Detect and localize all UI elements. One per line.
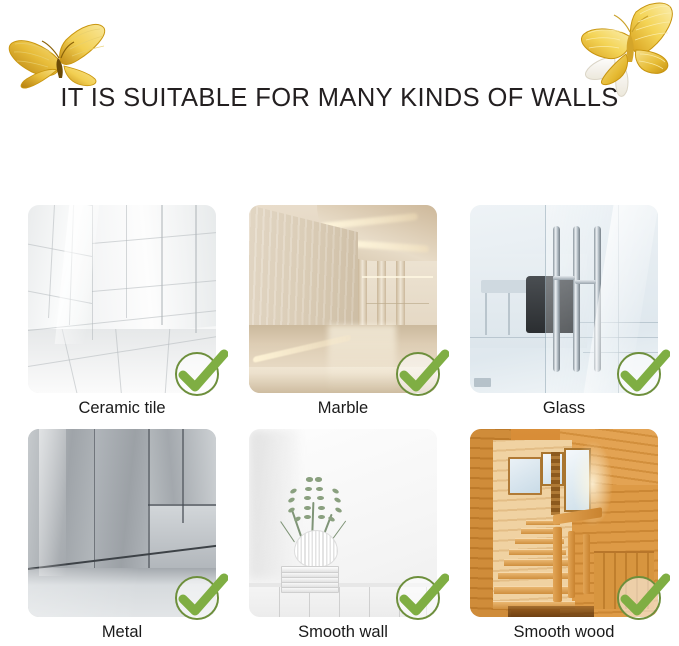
wall-type-card-smooth-wall[interactable]: Smooth wall (249, 429, 437, 642)
thumbnail-wrapper (28, 205, 216, 393)
wall-type-card-ceramic-tile[interactable]: Ceramic tile (28, 205, 216, 418)
wall-type-grid: Ceramic tile (28, 205, 658, 642)
wall-type-label: Metal (28, 622, 216, 642)
metal-image (28, 429, 216, 617)
wall-type-card-smooth-wood[interactable]: Smooth wood (470, 429, 658, 642)
thumbnail-wrapper (470, 429, 658, 617)
wall-type-card-marble[interactable]: Marble (249, 205, 437, 418)
marble-image (249, 205, 437, 393)
smooth-wood-image (470, 429, 658, 617)
wall-type-card-metal[interactable]: Metal (28, 429, 216, 642)
smooth-wall-image (249, 429, 437, 617)
ceramic-tile-image (28, 205, 216, 393)
wall-type-label: Smooth wall (249, 622, 437, 642)
butterfly-icon (566, 0, 678, 106)
thumbnail-wrapper (470, 205, 658, 393)
thumbnail-wrapper (249, 205, 437, 393)
wall-type-label: Glass (470, 398, 658, 418)
promo-banner: IT IS SUITABLE FOR MANY KINDS OF WALLS (0, 0, 679, 646)
thumbnail-wrapper (28, 429, 216, 617)
wall-type-label: Marble (249, 398, 437, 418)
glass-image (470, 205, 658, 393)
banner-header: IT IS SUITABLE FOR MANY KINDS OF WALLS (0, 0, 679, 150)
thumbnail-wrapper (249, 429, 437, 617)
wall-type-label: Smooth wood (470, 622, 658, 642)
wall-type-label: Ceramic tile (28, 398, 216, 418)
wall-type-card-glass[interactable]: Glass (470, 205, 658, 418)
